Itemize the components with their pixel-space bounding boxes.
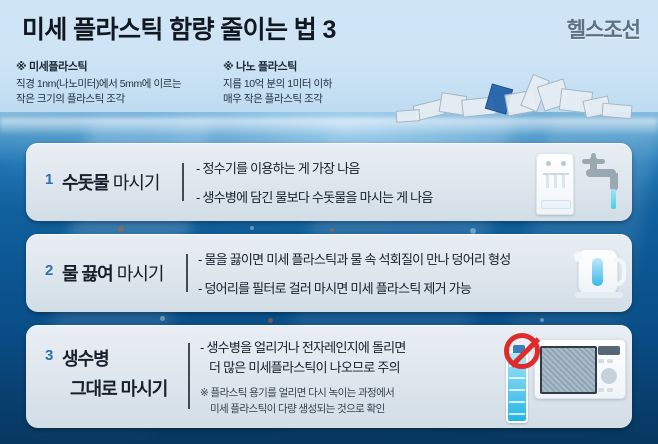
tip-title: 수돗물 마시기 bbox=[62, 169, 159, 195]
electric-kettle-icon bbox=[578, 249, 618, 295]
tip-number: 3 bbox=[45, 347, 53, 364]
prohibition-icon bbox=[504, 333, 540, 369]
tip-note: ※ 플라스틱 용기를 얼리면 다시 녹이는 과정에서 bbox=[200, 386, 406, 402]
card-divider bbox=[188, 343, 190, 409]
tip-bullet: - 정수기를 이용하는 게 가장 나음 bbox=[196, 159, 433, 179]
tip-note: 미세 플라스틱이 다량 생성되는 것으로 확인 bbox=[210, 402, 406, 418]
definition-marker: ※ bbox=[223, 61, 233, 73]
tip-bullet: - 물을 끓이면 미세 플라스틱과 물 속 석회질이 만나 덩어리 형성 bbox=[198, 250, 510, 270]
definition-term: ※ 미세플라스틱 bbox=[16, 58, 221, 74]
definition-microplastic: ※ 미세플라스틱 직경 1nm(나노미터)에서 5mm에 이르는 작은 크기의 … bbox=[16, 58, 221, 107]
tip-title-light: 마시기 bbox=[113, 173, 160, 193]
tip-bullets: - 물을 끓이면 미세 플라스틱과 물 속 석회질이 만나 덩어리 형성 - 덩… bbox=[198, 250, 510, 299]
poster-header: 미세 플라스틱 함량 줄이는 법 3 헬스조선 ※ 미세플라스틱 직경 1nm(… bbox=[0, 0, 658, 126]
infographic-poster: 미세 플라스틱 함량 줄이는 법 3 헬스조선 ※ 미세플라스틱 직경 1nm(… bbox=[0, 0, 658, 444]
card3-icon-group bbox=[500, 329, 632, 427]
definition-marker: ※ bbox=[16, 61, 26, 73]
definition-term-label: 미세플라스틱 bbox=[29, 61, 87, 73]
card2-icon-group bbox=[572, 246, 628, 302]
brand-logo: 헬스조선 bbox=[567, 14, 640, 44]
card1-icon-group bbox=[526, 151, 626, 215]
tip-bullet: - 덩어리를 필터로 걸러 마시면 미세 플라스틱 제거 가능 bbox=[198, 279, 510, 299]
tip-title-strong: 수돗물 bbox=[62, 173, 109, 193]
card-divider bbox=[186, 254, 188, 292]
tip-title: 물 끓여 마시기 bbox=[62, 260, 163, 286]
tip-title-strong: 물 끓여 bbox=[62, 264, 113, 284]
definition-line: 매우 작은 플라스틱 조각 bbox=[223, 92, 428, 107]
tip-title-line1: 생수병 bbox=[62, 345, 109, 371]
definition-term-label: 나노 플라스틱 bbox=[236, 61, 297, 73]
water-purifier-icon bbox=[536, 153, 574, 215]
definition-nanoplastic: ※ 나노 플라스틱 지름 10억 분의 1미터 이하 매우 작은 플라스틱 조각 bbox=[223, 58, 428, 107]
tip-title-light: 마시기 bbox=[117, 264, 164, 284]
tip-card-3: 3 생수병 그대로 마시기 - 생수병을 얼리거나 전자레인지에 돌리면 더 많… bbox=[26, 325, 632, 428]
definition-line: 작은 크기의 플라스틱 조각 bbox=[16, 92, 221, 107]
card-divider bbox=[182, 163, 184, 201]
tip-bullet: - 생수병을 얼리거나 전자레인지에 돌리면 bbox=[200, 338, 406, 358]
tip-bullets: - 정수기를 이용하는 게 가장 나음 - 생수병에 담긴 물보다 수돗물을 마… bbox=[196, 159, 433, 208]
tip-bullet: 더 많은 미세플라스틱이 나오므로 주의 bbox=[209, 358, 406, 378]
tip-card-1: 1 수돗물 마시기 - 정수기를 이용하는 게 가장 나음 - 생수병에 담긴 … bbox=[26, 143, 632, 221]
definition-line: 직경 1nm(나노미터)에서 5mm에 이르는 bbox=[16, 77, 221, 92]
page-title: 미세 플라스틱 함량 줄이는 법 3 bbox=[22, 10, 336, 46]
tip-card-2: 2 물 끓여 마시기 - 물을 끓이면 미세 플라스틱과 물 속 석회질이 만나… bbox=[26, 234, 632, 312]
tip-bullets: - 생수병을 얼리거나 전자레인지에 돌리면 더 많은 미세플라스틱이 나오므로… bbox=[200, 338, 406, 418]
tip-number: 2 bbox=[45, 262, 53, 279]
tip-title-line2: 그대로 마시기 bbox=[70, 375, 167, 401]
tip-number: 1 bbox=[45, 171, 53, 188]
definition-line: 지름 10억 분의 1미터 이하 bbox=[223, 77, 428, 92]
microwave-oven-icon bbox=[534, 339, 626, 399]
definition-term: ※ 나노 플라스틱 bbox=[223, 58, 428, 74]
tip-bullet: - 생수병에 담긴 물보다 수돗물을 마시는 게 나음 bbox=[196, 188, 433, 208]
